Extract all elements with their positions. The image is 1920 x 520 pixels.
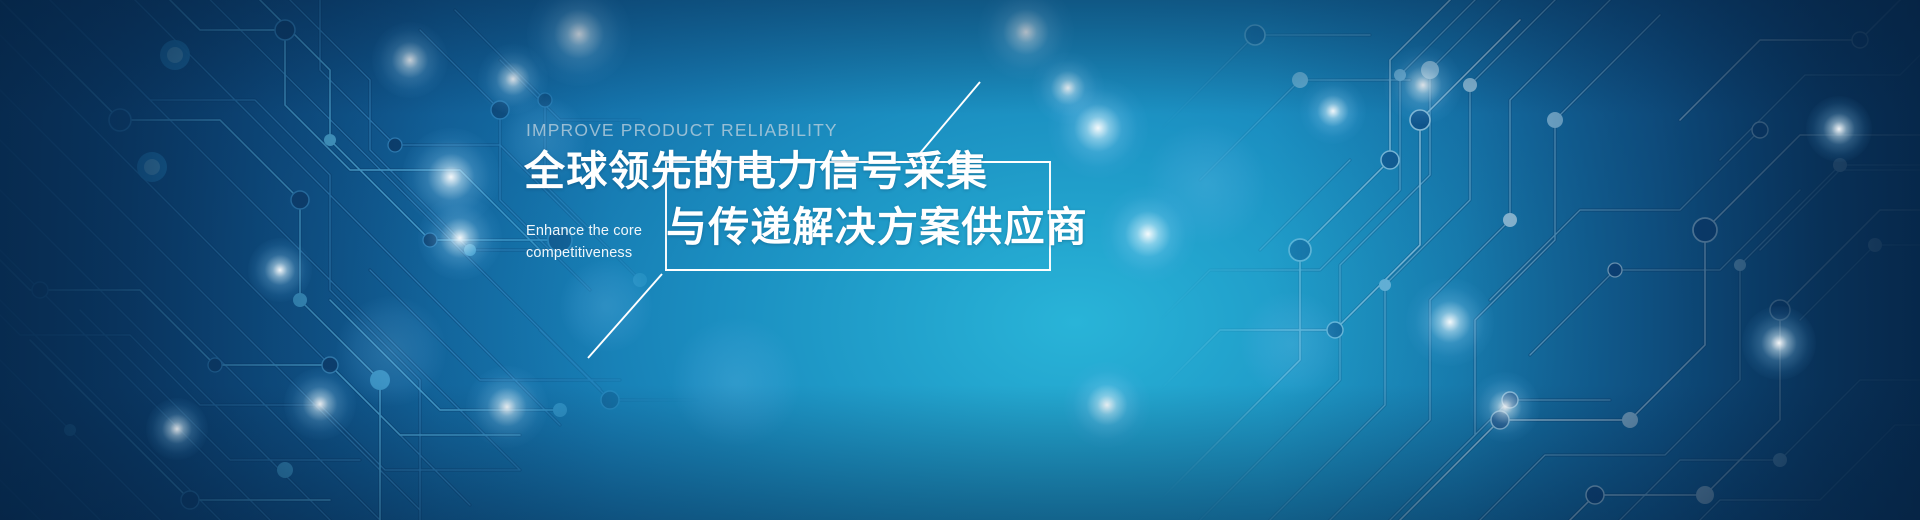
subtitle-line-1: Enhance the core [526,220,658,242]
headline-line-1: 全球领先的电力信号采集 [524,151,1084,193]
banner-text-block: IMPROVE PRODUCT RELIABILITY 全球领先的电力信号采集 … [524,122,1084,294]
subtitle-block: Enhance the core competitiveness [526,220,658,265]
headline-line-2: 与传递解决方案供应商 [666,207,1084,249]
eyebrow-text: IMPROVE PRODUCT RELIABILITY [524,122,1084,140]
subtitle-line-2: competitiveness [526,242,658,264]
hero-banner: IMPROVE PRODUCT RELIABILITY 全球领先的电力信号采集 … [0,0,1920,520]
